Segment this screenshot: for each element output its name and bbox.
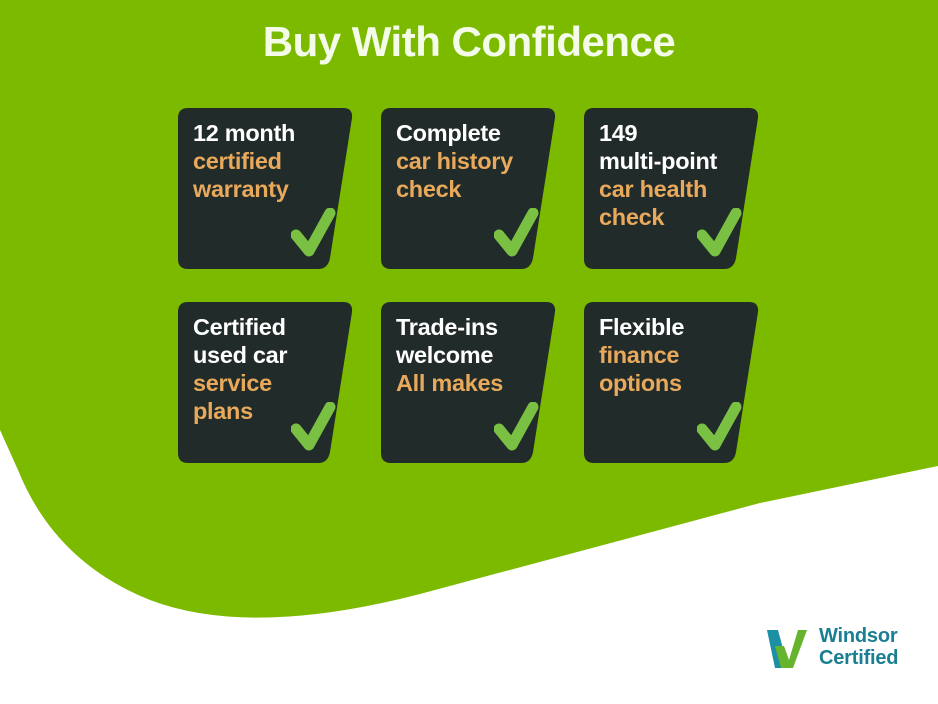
brand-line-2: Certified — [819, 648, 898, 670]
card-text-block: Trade-ins welcome All makes — [396, 314, 548, 398]
feature-card-grid: 12 month certified warranty Complete car… — [178, 108, 758, 463]
card-line: car health — [599, 176, 751, 204]
card-line: multi-point — [599, 148, 751, 176]
check-icon — [494, 402, 540, 454]
card-line: All makes — [396, 370, 548, 398]
card-line: finance — [599, 342, 751, 370]
check-icon — [494, 208, 540, 260]
card-text-block: 12 month certified warranty — [193, 120, 345, 204]
check-icon — [291, 208, 337, 260]
feature-card[interactable]: Trade-ins welcome All makes — [381, 302, 556, 463]
card-line: service — [193, 370, 345, 398]
check-icon — [291, 402, 337, 454]
feature-card[interactable]: 12 month certified warranty — [178, 108, 353, 269]
brand-logo[interactable]: Windsor Certified — [762, 626, 898, 670]
card-line: Trade-ins — [396, 314, 548, 342]
brand-wordmark: Windsor Certified — [819, 626, 898, 669]
feature-card[interactable]: Flexible finance options — [584, 302, 759, 463]
card-line: Flexible — [599, 314, 751, 342]
card-text-block: Complete car history check — [396, 120, 548, 204]
card-line: 149 — [599, 120, 751, 148]
feature-card[interactable]: Certified used car service plans — [178, 302, 353, 463]
check-icon — [697, 208, 743, 260]
brand-line-1: Windsor — [819, 626, 898, 648]
card-line: options — [599, 370, 751, 398]
check-icon — [697, 402, 743, 454]
card-line: used car — [193, 342, 345, 370]
feature-card[interactable]: 149 multi-point car health check — [584, 108, 759, 269]
card-text-block: Flexible finance options — [599, 314, 751, 398]
card-line: Complete — [396, 120, 548, 148]
card-line: Certified — [193, 314, 345, 342]
card-line: 12 month — [193, 120, 345, 148]
card-line: check — [396, 176, 548, 204]
card-row-top: 12 month certified warranty Complete car… — [178, 108, 758, 269]
card-line: warranty — [193, 176, 345, 204]
page-title: Buy With Confidence — [0, 18, 938, 66]
card-line: car history — [396, 148, 548, 176]
windsor-w-icon — [762, 626, 810, 670]
card-line: welcome — [396, 342, 548, 370]
card-row-bottom: Certified used car service plans Trade-i… — [178, 302, 758, 463]
card-line: certified — [193, 148, 345, 176]
feature-card[interactable]: Complete car history check — [381, 108, 556, 269]
poster-canvas: Buy With Confidence 12 month certified w… — [0, 0, 938, 704]
